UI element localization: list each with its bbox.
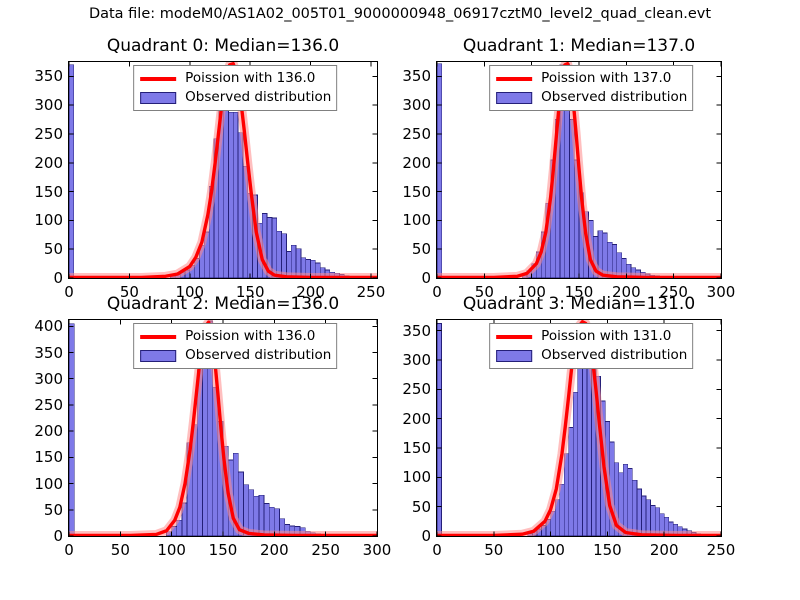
legend-label: Poission with 137.0 xyxy=(541,72,671,86)
legend-label: Poission with 131.0 xyxy=(541,330,671,344)
plot-axes: 0501001502002503003504000501001502002503… xyxy=(68,319,378,537)
subplot-title: Quadrant 0: Median=136.0 xyxy=(68,36,378,56)
y-axis-tick-label: 300 xyxy=(34,96,63,114)
plot-axes: 050100150200250300350050100150200250300P… xyxy=(436,61,722,279)
plot-legend: Poission with 136.0Observed distribution xyxy=(133,323,337,369)
y-axis-tick-label: 200 xyxy=(34,422,63,440)
y-axis-tick-label: 50 xyxy=(44,240,63,258)
y-axis-tick-label: 150 xyxy=(402,439,431,457)
legend-entry-observed: Observed distribution xyxy=(138,88,331,107)
x-axis-tick-label: 50 xyxy=(484,541,503,559)
subplot-quadrant-1: Quadrant 1: Median=137.0 050100150200250… xyxy=(436,61,722,279)
y-axis-tick-label: 200 xyxy=(402,154,431,172)
y-axis-tick-label: 400 xyxy=(34,317,63,335)
y-axis-tick-label: 0 xyxy=(53,527,63,545)
x-axis-tick-label: 300 xyxy=(363,541,392,559)
legend-line-swatch-icon xyxy=(138,329,178,345)
legend-line-swatch-icon xyxy=(138,71,178,87)
y-axis-tick-label: 50 xyxy=(412,240,431,258)
figure-suptitle: Data file: modeM0/AS1A02_005T01_90000009… xyxy=(0,6,800,22)
y-axis-tick-label: 100 xyxy=(34,211,63,229)
legend-entry-poisson: Poission with 131.0 xyxy=(494,327,687,346)
legend-patch-swatch-icon xyxy=(138,348,178,364)
x-axis-tick-label: 200 xyxy=(260,541,289,559)
legend-entry-observed: Observed distribution xyxy=(494,88,687,107)
y-axis-tick-label: 100 xyxy=(402,211,431,229)
legend-patch-swatch-icon xyxy=(494,90,534,106)
subplot-quadrant-0: Quadrant 0: Median=136.0 050100150200250… xyxy=(68,61,378,279)
y-axis-tick-label: 150 xyxy=(34,183,63,201)
plot-legend: Poission with 131.0Observed distribution xyxy=(489,323,693,369)
y-axis-tick-label: 100 xyxy=(34,475,63,493)
legend-label: Poission with 136.0 xyxy=(185,330,315,344)
legend-entry-observed: Observed distribution xyxy=(494,346,687,365)
plot-axes: 050100150200250300350050100150200250Pois… xyxy=(68,61,378,279)
x-axis-tick-label: 0 xyxy=(64,541,74,559)
y-axis-tick-label: 350 xyxy=(34,67,63,85)
x-axis-tick-label: 250 xyxy=(707,541,736,559)
y-axis-tick-label: 250 xyxy=(402,380,431,398)
y-axis-tick-label: 200 xyxy=(402,410,431,428)
x-axis-tick-label: 100 xyxy=(157,541,186,559)
x-axis-tick-label: 0 xyxy=(432,541,442,559)
legend-line-swatch-icon xyxy=(494,71,534,87)
y-axis-tick-label: 150 xyxy=(34,448,63,466)
y-axis-tick-label: 300 xyxy=(34,370,63,388)
y-axis-tick-label: 350 xyxy=(402,67,431,85)
x-axis-tick-label: 150 xyxy=(593,541,622,559)
y-axis-tick-label: 300 xyxy=(402,351,431,369)
y-axis-tick-label: 350 xyxy=(34,344,63,362)
subplot-title: Quadrant 3: Median=131.0 xyxy=(436,294,722,314)
y-axis-tick-label: 350 xyxy=(402,322,431,340)
y-axis-tick-label: 100 xyxy=(402,468,431,486)
plot-legend: Poission with 137.0Observed distribution xyxy=(489,65,693,111)
y-axis-tick-label: 0 xyxy=(421,527,431,545)
legend-label: Observed distribution xyxy=(185,91,331,105)
x-axis-tick-label: 250 xyxy=(311,541,340,559)
legend-entry-poisson: Poission with 137.0 xyxy=(494,69,687,88)
figure-canvas: Data file: modeM0/AS1A02_005T01_90000009… xyxy=(0,0,800,600)
y-axis-tick-label: 300 xyxy=(402,96,431,114)
legend-label: Poission with 136.0 xyxy=(185,72,315,86)
y-axis-tick-label: 50 xyxy=(412,498,431,516)
subplot-quadrant-3: Quadrant 3: Median=131.0 050100150200250… xyxy=(436,319,722,537)
legend-entry-observed: Observed distribution xyxy=(138,346,331,365)
y-axis-tick-label: 50 xyxy=(44,501,63,519)
x-axis-tick-label: 150 xyxy=(209,541,238,559)
y-axis-tick-label: 200 xyxy=(34,154,63,172)
y-axis-tick-label: 250 xyxy=(402,125,431,143)
y-axis-tick-label: 0 xyxy=(53,269,63,287)
plot-legend: Poission with 136.0Observed distribution xyxy=(133,65,337,111)
subplot-title: Quadrant 2: Median=136.0 xyxy=(68,294,378,314)
legend-patch-swatch-icon xyxy=(138,90,178,106)
y-axis-tick-label: 0 xyxy=(421,269,431,287)
legend-patch-swatch-icon xyxy=(494,348,534,364)
subplot-quadrant-2: Quadrant 2: Median=136.0 050100150200250… xyxy=(68,319,378,537)
subplot-title: Quadrant 1: Median=137.0 xyxy=(436,36,722,56)
y-axis-tick-label: 150 xyxy=(402,183,431,201)
x-axis-tick-label: 200 xyxy=(650,541,679,559)
plot-axes: 050100150200250300350050100150200250Pois… xyxy=(436,319,722,537)
y-axis-tick-label: 250 xyxy=(34,396,63,414)
legend-line-swatch-icon xyxy=(494,329,534,345)
x-axis-tick-label: 100 xyxy=(536,541,565,559)
legend-entry-poisson: Poission with 136.0 xyxy=(138,69,331,88)
y-axis-tick-label: 250 xyxy=(34,125,63,143)
legend-label: Observed distribution xyxy=(185,349,331,363)
legend-label: Observed distribution xyxy=(541,91,687,105)
x-axis-tick-label: 50 xyxy=(111,541,130,559)
legend-entry-poisson: Poission with 136.0 xyxy=(138,327,331,346)
legend-label: Observed distribution xyxy=(541,349,687,363)
